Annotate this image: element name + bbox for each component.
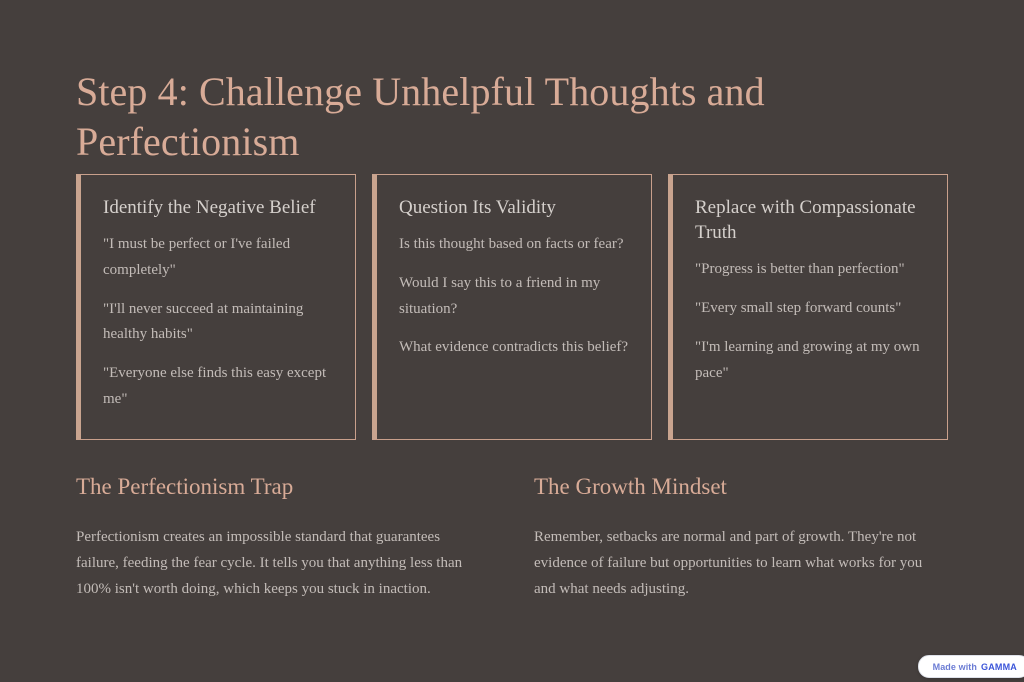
card-item: What evidence contradicts this belief? (399, 335, 629, 361)
made-with-gamma-badge[interactable]: Made with GAMMA (918, 655, 1024, 678)
card-question-its-validity: Question Its Validity Is this thought ba… (372, 174, 652, 440)
card-item: "Every small step forward counts" (695, 296, 925, 322)
card-row: Identify the Negative Belief "I must be … (76, 174, 948, 440)
badge-prefix-label: Made with (933, 662, 977, 672)
card-title: Identify the Negative Belief (103, 195, 333, 220)
card-title: Question Its Validity (399, 195, 629, 220)
gamma-wordmark: GAMMA (981, 662, 1017, 672)
column-perfectionism-trap: The Perfectionism Trap Perfectionism cre… (76, 472, 476, 602)
slide-canvas: Step 4: Challenge Unhelpful Thoughts and… (0, 0, 1024, 682)
section-body: Perfectionism creates an impossible stan… (76, 524, 476, 602)
card-item: "I must be perfect or I've failed comple… (103, 232, 333, 284)
card-item: "I'll never succeed at maintaining healt… (103, 297, 333, 349)
card-item: "Everyone else finds this easy except me… (103, 361, 333, 413)
section-body: Remember, setbacks are normal and part o… (534, 524, 944, 602)
column-growth-mindset: The Growth Mindset Remember, setbacks ar… (534, 472, 944, 602)
card-item: Would I say this to a friend in my situa… (399, 271, 629, 323)
section-heading: The Perfectionism Trap (76, 472, 476, 502)
card-item: "Progress is better than perfection" (695, 257, 925, 283)
card-title: Replace with Compassionate Truth (695, 195, 925, 245)
card-identify-negative-belief: Identify the Negative Belief "I must be … (76, 174, 356, 440)
page-title: Step 4: Challenge Unhelpful Thoughts and… (76, 67, 876, 167)
card-item: Is this thought based on facts or fear? (399, 232, 629, 258)
card-replace-with-compassionate-truth: Replace with Compassionate Truth "Progre… (668, 174, 948, 440)
bottom-section: The Perfectionism Trap Perfectionism cre… (76, 472, 948, 602)
card-item: "I'm learning and growing at my own pace… (695, 335, 925, 387)
section-heading: The Growth Mindset (534, 472, 944, 502)
